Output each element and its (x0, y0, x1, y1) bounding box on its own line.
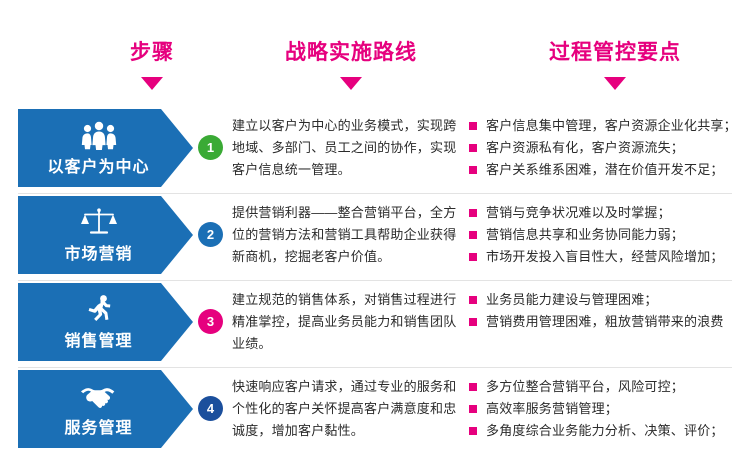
square-bullet-icon (469, 144, 477, 152)
header-column-steps: 步骤 (62, 36, 242, 90)
process-row: 销售管理 3 建立规范的销售体系，对销售过程进行精准掌控，提高业务员能力和销售团… (0, 283, 750, 363)
square-bullet-icon (469, 231, 477, 239)
strategy-text: 建立以客户为中心的业务模式，实现跨地域、多部门、员工之间的协作，实现客户信息统一… (232, 115, 462, 181)
list-item: 营销费用管理困难，粗放营销带来的浪费 (468, 311, 740, 333)
square-bullet-icon (469, 122, 477, 130)
process-row: 以客户为中心 1 建立以客户为中心的业务模式，实现跨地域、多部门、员工之间的协作… (0, 109, 750, 189)
square-bullet-icon (469, 427, 477, 435)
step-block-marketing[interactable]: 市场营销 (18, 196, 193, 274)
list-item-label: 业务员能力建设与管理困难； (486, 292, 658, 307)
row-divider (18, 367, 732, 368)
step-number-badge: 3 (198, 309, 223, 334)
header-title-steps: 步骤 (62, 36, 242, 66)
list-item: 多方位整合营销平台，风险可控； (468, 376, 740, 398)
infographic-page: 步骤 战略实施路线 过程管控要点 以客户为中心 (0, 0, 750, 468)
list-item: 业务员能力建设与管理困难； (468, 289, 740, 311)
square-bullet-icon (469, 318, 477, 326)
triangle-down-icon (604, 77, 626, 90)
list-item: 客户资源私有化，客户资源流失； (468, 137, 740, 159)
row-divider (18, 193, 732, 194)
list-item-label: 多角度综合业务能力分析、决策、评价； (486, 423, 724, 438)
step-block-service[interactable]: 服务管理 (18, 370, 193, 448)
square-bullet-icon (469, 296, 477, 304)
header-title-control: 过程管控要点 (500, 36, 730, 66)
step-label: 市场营销 (64, 240, 132, 264)
control-point-list: 营销与竞争状况难以及时掌握； 营销信息共享和业务协同能力弱； 市场开发投入盲目性… (468, 202, 740, 268)
strategy-text: 建立规范的销售体系，对销售过程进行精准掌控，提高业务员能力和销售团队业绩。 (232, 289, 462, 355)
header-title-strategy: 战略实施路线 (236, 36, 466, 66)
triangle-down-icon (340, 77, 362, 90)
list-item-label: 市场开发投入盲目性大，经营风险增加； (486, 249, 724, 264)
balance-scale-icon (80, 207, 118, 237)
list-item-label: 客户资源私有化，客户资源流失； (486, 140, 684, 155)
list-item-label: 高效率服务营销管理； (486, 401, 618, 416)
square-bullet-icon (469, 405, 477, 413)
step-block-sales[interactable]: 销售管理 (18, 283, 193, 361)
list-item: 营销信息共享和业务协同能力弱； (468, 224, 740, 246)
list-item-label: 营销费用管理困难，粗放营销带来的浪费 (486, 314, 724, 329)
list-item: 高效率服务营销管理； (468, 398, 740, 420)
list-item-label: 客户关系维系困难，潜在价值开发不足； (486, 162, 724, 177)
control-point-list: 客户信息集中管理，客户资源企业化共享； 客户资源私有化，客户资源流失； 客户关系… (468, 115, 740, 181)
header-row: 步骤 战略实施路线 过程管控要点 (0, 0, 750, 96)
list-item: 营销与竞争状况难以及时掌握； (468, 202, 740, 224)
step-label: 以客户为中心 (47, 153, 149, 177)
header-column-strategy: 战略实施路线 (236, 36, 466, 90)
handshake-icon (78, 381, 120, 411)
step-number-badge: 1 (198, 135, 223, 160)
header-column-control: 过程管控要点 (500, 36, 730, 90)
runner-icon (83, 294, 115, 324)
triangle-down-icon (141, 77, 163, 90)
list-item-label: 多方位整合营销平台，风险可控； (486, 379, 684, 394)
list-item: 客户关系维系困难，潜在价值开发不足； (468, 159, 740, 181)
list-item: 多角度综合业务能力分析、决策、评价； (468, 420, 740, 442)
square-bullet-icon (469, 209, 477, 217)
list-item-label: 客户信息集中管理，客户资源企业化共享； (486, 118, 737, 133)
list-item-label: 营销信息共享和业务协同能力弱； (486, 227, 684, 242)
step-number-badge: 2 (198, 222, 223, 247)
strategy-text: 快速响应客户请求，通过专业的服务和个性化的客户关怀提高客户满意度和忠诚度，增加客… (232, 376, 462, 442)
control-point-list: 多方位整合营销平台，风险可控； 高效率服务营销管理； 多角度综合业务能力分析、决… (468, 376, 740, 442)
step-label: 服务管理 (64, 414, 132, 438)
list-item: 客户信息集中管理，客户资源企业化共享； (468, 115, 740, 137)
list-item-label: 营销与竞争状况难以及时掌握； (486, 205, 671, 220)
step-label: 销售管理 (64, 327, 132, 351)
square-bullet-icon (469, 383, 477, 391)
people-icon (79, 120, 119, 150)
process-row: 市场营销 2 提供营销利器——整合营销平台，全方位的营销方法和营销工具帮助企业获… (0, 196, 750, 276)
process-row: 服务管理 4 快速响应客户请求，通过专业的服务和个性化的客户关怀提高客户满意度和… (0, 370, 750, 450)
control-point-list: 业务员能力建设与管理困难； 营销费用管理困难，粗放营销带来的浪费 (468, 289, 740, 333)
square-bullet-icon (469, 166, 477, 174)
row-divider (18, 280, 732, 281)
list-item: 市场开发投入盲目性大，经营风险增加； (468, 246, 740, 268)
step-number-badge: 4 (198, 396, 223, 421)
strategy-text: 提供营销利器——整合营销平台，全方位的营销方法和营销工具帮助企业获得新商机，挖掘… (232, 202, 462, 268)
step-block-customer-centric[interactable]: 以客户为中心 (18, 109, 193, 187)
square-bullet-icon (469, 253, 477, 261)
